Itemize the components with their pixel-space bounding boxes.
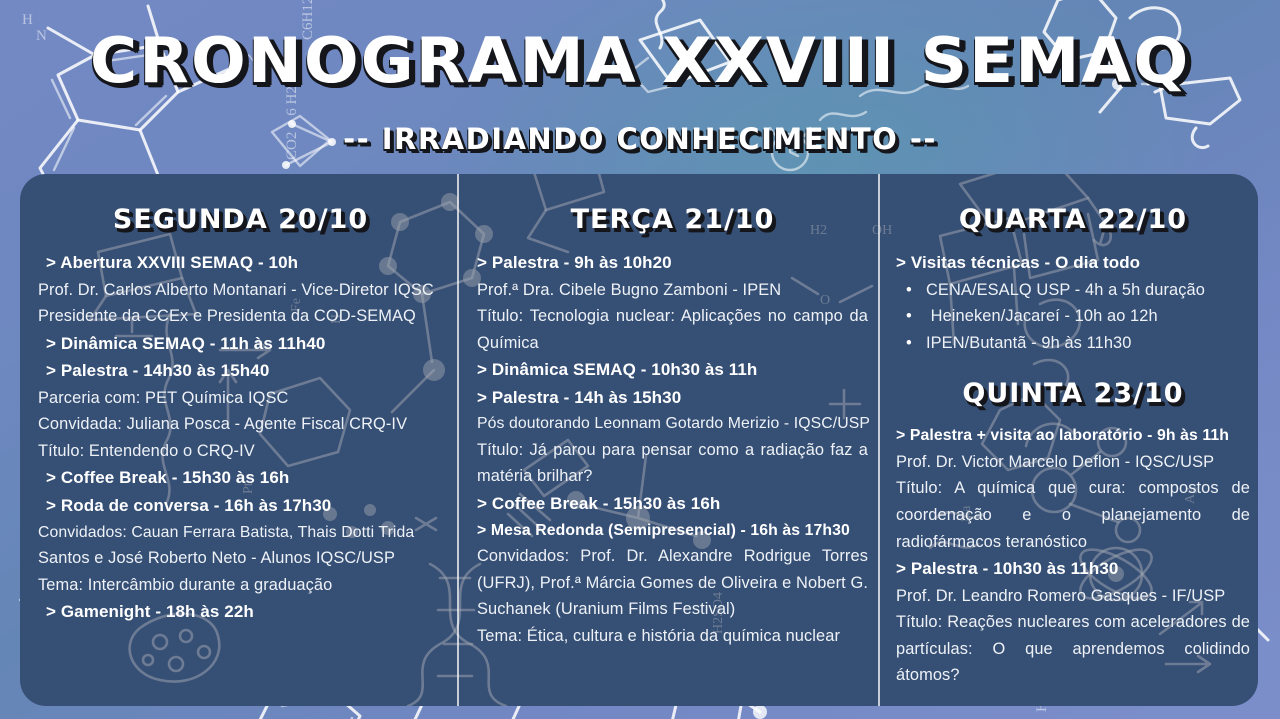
schedule-item: > Palestra - 14h às 15h30 xyxy=(477,384,868,412)
schedule-detail: Presidente da CCEx e Presidenta da COD-S… xyxy=(38,303,443,330)
day-header-segunda: SEGUNDA 20/10 xyxy=(38,204,443,235)
day-header-terca: TERÇA 21/10 xyxy=(477,204,868,235)
schedule-detail: Convidada: Juliana Posca - Agente Fiscal… xyxy=(38,411,443,438)
poster-subtitle-wrap: -- IRRADIANDO CONHECIMENTO -- xyxy=(0,122,1280,156)
schedule-panel: Fe H Pt xyxy=(20,174,1258,706)
schedule-item: > Palestra - 9h às 10h20 xyxy=(477,249,868,277)
schedule-bullet: IPEN/Butantã - 9h às 11h30 xyxy=(896,330,1250,357)
schedule-item: > Gamenight - 18h às 22h xyxy=(38,598,443,626)
day-header-quarta: QUARTA 22/10 xyxy=(896,204,1250,235)
poster-root: H N N CO2 + 6 H2O C6H12O6 xyxy=(0,0,1280,719)
schedule-item: > Coffee Break - 15h30 às 16h xyxy=(38,464,443,492)
poster-title-wrap: CRONOGRAMA XXVIII SEMAQ xyxy=(0,24,1280,97)
page-subtitle: -- IRRADIANDO CONHECIMENTO -- xyxy=(343,122,937,156)
schedule-item: > Palestra - 10h30 às 11h30 xyxy=(896,555,1250,583)
schedule-detail: Título: A química que cura: compostos de… xyxy=(896,475,1250,555)
schedule-item: > Mesa Redonda (Semipresencial) - 16h às… xyxy=(477,518,868,544)
day-header-quinta: QUINTA 23/10 xyxy=(896,378,1250,409)
schedule-item: > Visitas técnicas - O dia todo xyxy=(896,249,1250,277)
schedule-item: > Roda de conversa - 16h às 17h30 xyxy=(38,492,443,520)
schedule-detail: Tema: Ética, cultura e história da quími… xyxy=(477,623,868,650)
schedule-item: > Palestra - 14h30 às 15h40 xyxy=(38,357,443,385)
schedule-detail: Prof. Dr. Leandro Romero Gasques - IF/US… xyxy=(896,583,1250,610)
schedule-detail: Prof. Dr. Victor Marcelo Deflon - IQSC/U… xyxy=(896,449,1250,476)
column-terca: TERÇA 21/10 > Palestra - 9h às 10h20 Pro… xyxy=(457,174,878,706)
schedule-detail: Prof. Dr. Carlos Alberto Montanari - Vic… xyxy=(38,277,443,304)
schedule-item: > Coffee Break - 15h30 às 16h xyxy=(477,490,868,518)
schedule-item: > Palestra + visita ao laboratório - 9h … xyxy=(896,423,1250,449)
schedule-detail: Parceria com: PET Química IQSC xyxy=(38,385,443,412)
schedule-detail: Título: Entendendo o CRQ-IV xyxy=(38,438,443,465)
schedule-detail: Título: Já parou para pensar como a radi… xyxy=(477,437,868,490)
schedule-detail: Título: Tecnologia nuclear: Aplicações n… xyxy=(477,303,868,356)
column-quarta-quinta: QUARTA 22/10 > Visitas técnicas - O dia … xyxy=(878,174,1258,706)
schedule-bullet: Heineken/Jacareí - 10h ao 12h xyxy=(896,303,1250,330)
page-title: CRONOGRAMA XXVIII SEMAQ xyxy=(90,24,1191,97)
schedule-bullet: CENA/ESALQ USP - 4h a 5h duração xyxy=(896,277,1250,304)
schedule-detail: Santos e José Roberto Neto - Alunos IQSC… xyxy=(38,545,443,572)
schedule-detail: Prof.ª Dra. Cibele Bugno Zamboni - IPEN xyxy=(477,277,868,304)
schedule-item: > Dinâmica SEMAQ - 11h às 11h40 xyxy=(38,330,443,358)
schedule-detail: Título: Reações nucleares com acelerador… xyxy=(896,609,1250,689)
schedule-detail: Convidados: Prof. Dr. Alexandre Rodrigue… xyxy=(477,543,868,623)
schedule-item: > Dinâmica SEMAQ - 10h30 às 11h xyxy=(477,356,868,384)
schedule-detail: Tema: Intercâmbio durante a graduação xyxy=(38,572,443,599)
schedule-detail: Pós doutorando Leonnam Gotardo Merizio -… xyxy=(477,411,868,437)
schedule-detail: Convidados: Cauan Ferrara Batista, Thais… xyxy=(38,520,443,546)
column-segunda: SEGUNDA 20/10 > Abertura XXVIII SEMAQ - … xyxy=(20,174,457,706)
schedule-item: > Abertura XXVIII SEMAQ - 10h xyxy=(38,249,443,277)
